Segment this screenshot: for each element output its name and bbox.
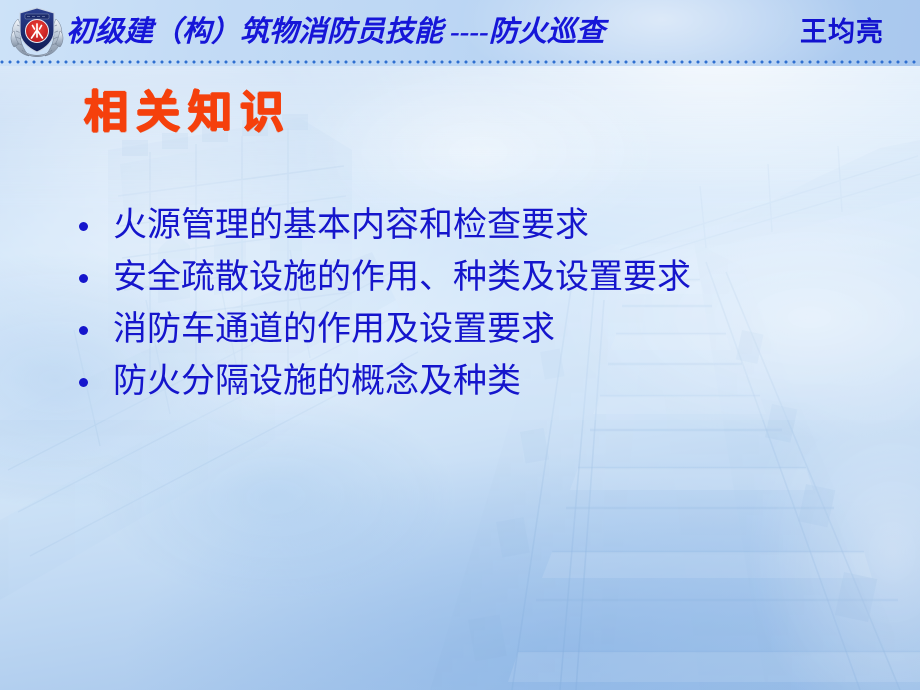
fire-service-emblem-icon (8, 3, 66, 61)
list-item: 消防车通道的作用及设置要求 (70, 306, 890, 358)
slide-header: 初级建（构）筑物消防员技能 ----防火巡查 王均亮 (0, 0, 920, 66)
author-name: 王均亮 (800, 19, 884, 46)
list-item: 安全疏散设施的作用、种类及设置要求 (70, 254, 890, 306)
list-item-label: 防火分隔设施的概念及种类 (113, 363, 521, 400)
bullet-list: 火源管理的基本内容和检查要求 安全疏散设施的作用、种类及设置要求 消防车通道的作… (70, 202, 890, 410)
list-item-label: 安全疏散设施的作用、种类及设置要求 (113, 259, 691, 296)
bullet-dot-icon (79, 326, 88, 335)
dotted-divider-icon (0, 60, 920, 64)
section-heading: 相关知识 (84, 88, 292, 139)
bullet-dot-icon (79, 274, 88, 283)
bullet-dot-icon (79, 222, 88, 231)
list-item-label: 火源管理的基本内容和检查要求 (113, 207, 589, 244)
page-title: 初级建（构）筑物消防员技能 ----防火巡查 (66, 18, 605, 47)
bullet-dot-icon (79, 378, 88, 387)
list-item: 火源管理的基本内容和检查要求 (70, 202, 890, 254)
list-item: 防火分隔设施的概念及种类 (70, 358, 890, 410)
presentation-slide: 初级建（构）筑物消防员技能 ----防火巡查 王均亮 相关知识 火源管理的基本内… (0, 0, 920, 690)
list-item-label: 消防车通道的作用及设置要求 (113, 311, 555, 348)
